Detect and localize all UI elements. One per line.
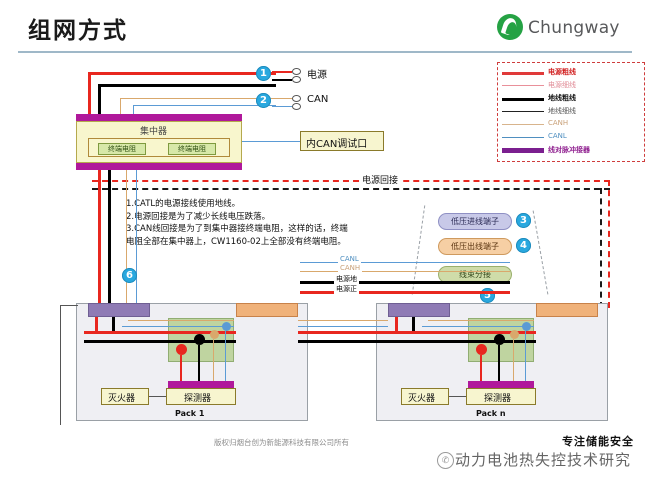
- pack-1-drop-power: [180, 355, 182, 383]
- power-return-label: 电源回接: [360, 173, 400, 186]
- pack-n-drop-canh: [513, 339, 514, 383]
- wire-canl-top: [133, 105, 276, 106]
- legend-label: 地线粗线: [548, 93, 576, 103]
- pack-n-detector-label: 探测器: [484, 391, 511, 404]
- label-power-positive: 电源正: [334, 284, 359, 294]
- wire-canh-top: [120, 98, 276, 99]
- wire-left-frame-top: [60, 305, 78, 306]
- copyright-text: 版权归烟台创为新能源科技有限公司所有: [214, 437, 349, 448]
- legend-label: 线对脉冲接器: [548, 145, 590, 155]
- pack-1-node-canh: [210, 330, 219, 339]
- can-connector-icon-a: [292, 95, 301, 102]
- wire-trunk-canh: [298, 320, 388, 321]
- terminal-resistor-right: 终端电阻: [168, 143, 216, 155]
- pack-n-node-ground: [494, 334, 505, 345]
- wire-ground-top: [98, 84, 276, 87]
- pack-1-wire-power-in: [95, 317, 98, 331]
- wire-hub-to-debug-port: [242, 141, 300, 142]
- wire-power-return-top: [92, 180, 610, 182]
- legend-swatch: [502, 148, 544, 153]
- label-power: 电源: [307, 66, 327, 81]
- legend-swatch: [502, 98, 544, 101]
- legend-row: 电源细线: [502, 79, 642, 92]
- wire-power-return-right: [608, 180, 610, 308]
- label-power-ground: 电源地: [334, 274, 359, 284]
- wire-power-positive-mid: [300, 291, 510, 294]
- legend-box: 电源粗线 电源细线 地线粗线 地线细线 CANH CANL 线对脉冲接器: [497, 62, 645, 162]
- wire-left-canl-down: [136, 170, 137, 305]
- pack-n-drop-power: [480, 355, 482, 383]
- legend-swatch: [502, 85, 544, 86]
- debug-port-label: 内CAN调试口: [306, 135, 367, 150]
- pack-n-wire-power-in: [395, 317, 398, 331]
- legend-label: 电源粗线: [548, 67, 576, 77]
- pack-n-input-terminal[interactable]: [388, 303, 450, 317]
- marker-3[interactable]: 3: [516, 213, 531, 228]
- pack-1-input-terminal[interactable]: [88, 303, 150, 317]
- header-divider: [18, 51, 632, 53]
- pack-1-node-power: [176, 344, 187, 355]
- can-connector-icon-b: [292, 103, 301, 110]
- pack-1-name: Pack 1: [175, 409, 204, 418]
- wire-left-ground-down: [108, 170, 111, 305]
- pack-1-bus-canh: [128, 320, 234, 321]
- note-line-3: 3.CAN线回接是为了到集中器接终端电阻，这样的话，终端: [126, 223, 348, 236]
- pack-1-detector-label: 探测器: [184, 391, 211, 404]
- label-canl: CANL: [338, 255, 361, 263]
- pack-1-extinguisher-label: 灭火器: [108, 391, 135, 404]
- hub-top-bus-bar: [76, 114, 242, 121]
- legend-swatch: [502, 124, 544, 125]
- pack-n-drop-canl: [525, 331, 526, 383]
- logo-wordmark: Chungway: [528, 18, 620, 38]
- pack-1-output-terminal[interactable]: [236, 303, 298, 317]
- marker-1[interactable]: 1: [256, 66, 271, 81]
- wire-trunk-ground: [298, 340, 388, 343]
- pack-1-drop-canl: [225, 331, 226, 383]
- wire-canh-mid: [300, 271, 510, 272]
- legend-row: 电源粗线: [502, 66, 642, 79]
- pack-n-detector-connector: [468, 381, 534, 388]
- legend-label: 电源细线: [548, 80, 576, 90]
- wire-return-ground-right: [600, 188, 602, 308]
- power-connector-icon-b: [292, 76, 301, 83]
- pack-n-bus-canl: [422, 326, 534, 327]
- callout-lv-output-terminal[interactable]: 低压出线端子: [438, 238, 512, 255]
- legend-label: CANH: [548, 119, 568, 127]
- callout-leader-right: [533, 211, 549, 295]
- pack-n-node-power: [476, 344, 487, 355]
- hub-title: 集中器: [140, 124, 167, 137]
- wire-trunk-power: [298, 331, 388, 334]
- label-can: CAN: [307, 94, 328, 105]
- marker-6[interactable]: 6: [122, 268, 137, 283]
- pack-n-bus-canh: [428, 320, 534, 321]
- wire-return-ground-top: [92, 188, 610, 190]
- wire-canl-mid: [300, 262, 510, 263]
- wechat-account-icon: ✆: [437, 452, 454, 469]
- pack-n-extinguisher-label: 灭火器: [408, 391, 435, 404]
- pack-n-drop-ground: [498, 345, 500, 383]
- watermark-text: 动力电池热失控技术研究: [455, 449, 631, 470]
- legend-row: 线对脉冲接器: [502, 144, 642, 157]
- wire-power-positive-top: [88, 72, 276, 75]
- pack-1-detector-connector: [168, 381, 234, 388]
- pack-1-node-canl: [222, 322, 231, 331]
- hub-bottom-bus-bar: [76, 163, 242, 170]
- note-line-4: 电阻全部在集中器上，CW1160-02上全部没有终端电阻。: [126, 236, 348, 249]
- wire-power-ground-mid: [300, 281, 510, 284]
- pack-n-wire-extinguisher: [449, 396, 466, 397]
- legend-swatch: [502, 137, 544, 138]
- power-connector-icon-a: [292, 68, 301, 75]
- wire-connector-canh: [272, 98, 292, 99]
- legend-row: 地线粗线: [502, 92, 642, 105]
- wire-left-canh-down: [126, 170, 127, 305]
- legend-row: CANL: [502, 131, 642, 144]
- wire-connector-power-black: [272, 79, 292, 81]
- legend-row: CANH: [502, 118, 642, 131]
- pack-1-node-ground: [194, 334, 205, 345]
- note-line-2: 2.电源回接是为了减少长线电压跌落。: [126, 211, 348, 224]
- pack-1-wire-extinguisher: [149, 396, 166, 397]
- legend-label: CANL: [548, 132, 567, 140]
- wire-left-power-down: [98, 170, 101, 305]
- diagram-canvas: 组网方式 Chungway 电源粗线 电源细线 地线粗线 地线细线 CANH C…: [0, 0, 650, 485]
- callout-lv-input-terminal[interactable]: 低压进线端子: [438, 213, 512, 230]
- pack-1-wire-ground-in: [112, 317, 115, 331]
- wire-connector-canl: [272, 106, 292, 107]
- legend-row: 地线细线: [502, 105, 642, 118]
- legend-label: 地线细线: [548, 106, 576, 116]
- terminal-resistor-left: 终端电阻: [98, 143, 146, 155]
- legend-swatch: [502, 72, 544, 75]
- marker-2[interactable]: 2: [256, 93, 271, 108]
- legend-swatch: [502, 111, 544, 112]
- notes-block: 1.CATL的电源接线使用地线。 2.电源回接是为了减少长线电压跌落。 3.CA…: [126, 198, 348, 248]
- page-title: 组网方式: [28, 11, 128, 45]
- marker-4[interactable]: 4: [516, 238, 531, 253]
- wire-connector-power-red: [272, 71, 292, 73]
- note-line-1: 1.CATL的电源接线使用地线。: [126, 198, 348, 211]
- pack-1-bus-canl: [122, 326, 234, 327]
- pack-n-wire-ground-in: [412, 317, 415, 331]
- page-header: 组网方式 Chungway: [0, 0, 650, 52]
- slogan-text: 专注储能安全: [562, 433, 634, 449]
- pack-n-name: Pack n: [476, 409, 506, 418]
- wire-left-frame: [60, 305, 61, 425]
- label-canh: CANH: [338, 264, 362, 272]
- pack-1-drop-ground: [198, 345, 200, 383]
- wire-trunk-canl: [298, 326, 388, 327]
- chungway-leaf-logo: [497, 14, 523, 40]
- pack-n-node-canl: [522, 322, 531, 331]
- pack-n-output-terminal[interactable]: [536, 303, 598, 317]
- pack-1-drop-canh: [213, 339, 214, 383]
- pack-n-node-canh: [510, 330, 519, 339]
